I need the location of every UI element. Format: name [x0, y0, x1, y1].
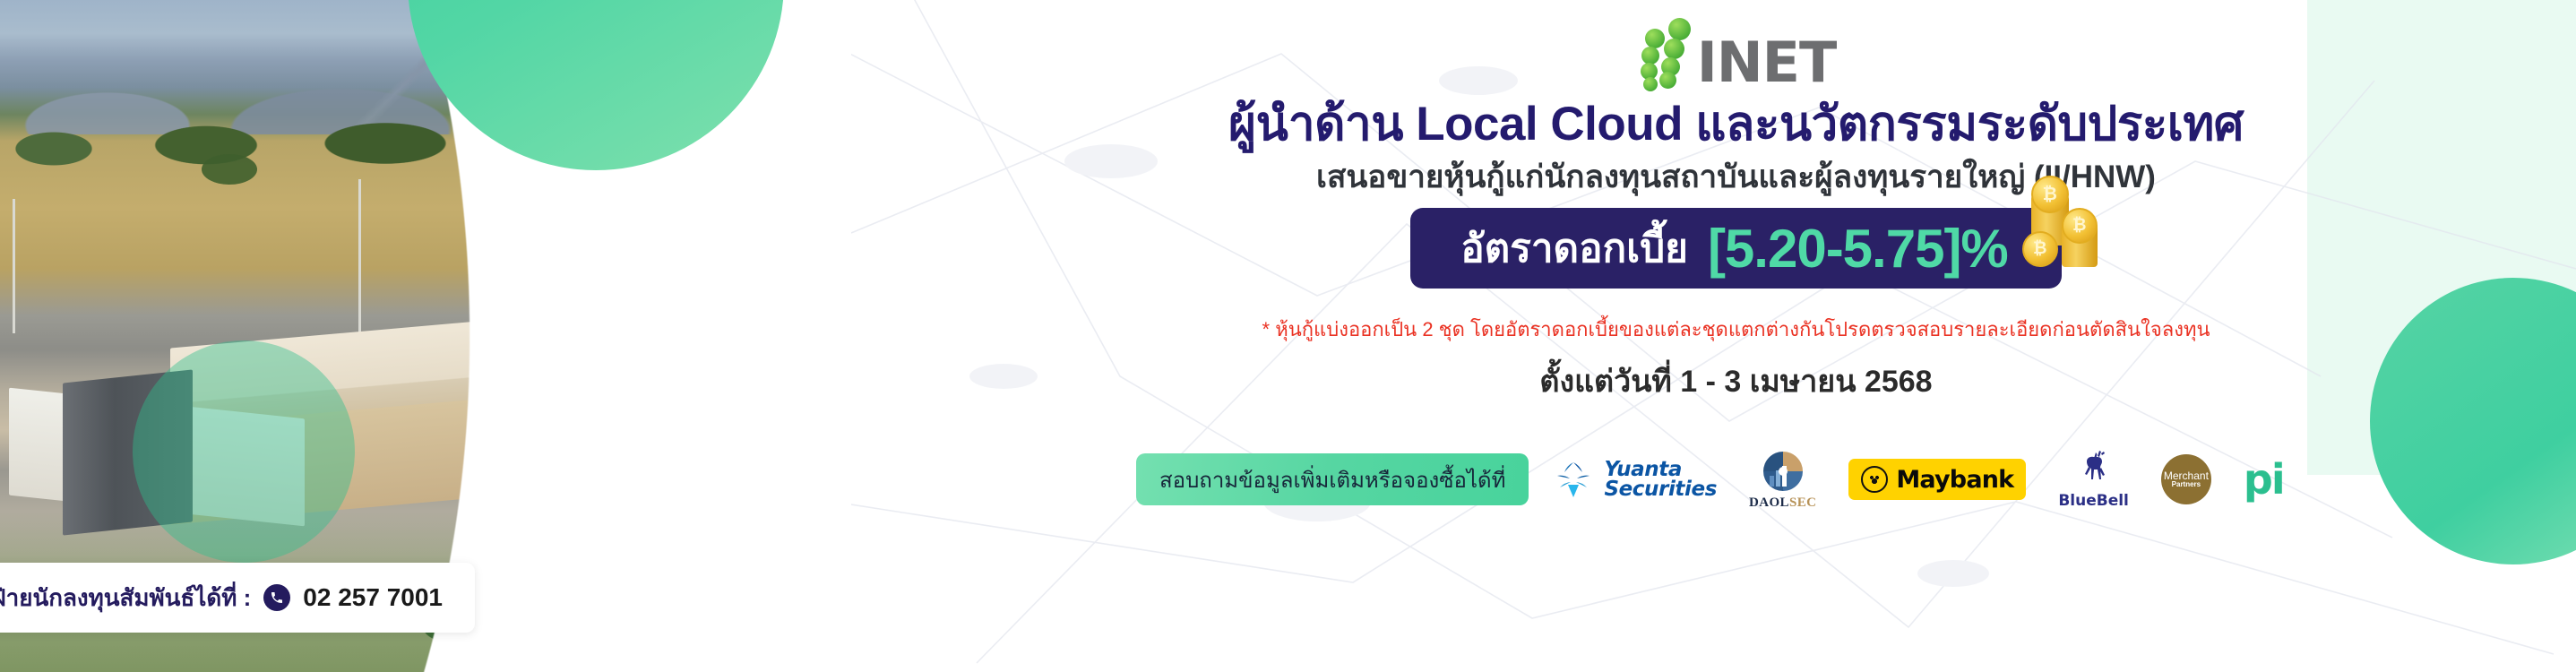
- rate-wrapper: อัตราดอกเบี้ย [5.20-5.75]% ₿ ₿ ₿: [896, 208, 2576, 289]
- utility-pole: [358, 179, 361, 336]
- contact-label: ติดต่อฝ่ายนักลงทุนสัมพันธ์ได้ที่ :: [0, 580, 251, 616]
- yuanta-wordmark: Yuanta Securities: [1604, 460, 1717, 499]
- maybank-tiger-icon: [1861, 466, 1888, 493]
- coin-front: ₿: [2022, 231, 2058, 267]
- merchant-line-2: Partners: [2172, 481, 2201, 488]
- photo-green-overlay-circle: [133, 340, 355, 563]
- subheadline: เสนอขายหุ้นกู้แก่นักลงทุนสถาบันและผู้ลงท…: [896, 152, 2576, 202]
- tree-line: [0, 106, 896, 168]
- gold-coins-icon: ₿ ₿ ₿: [2019, 172, 2117, 289]
- content-column: INET ผู้นำด้าน Local Cloud และนวัตกรรมระ…: [896, 0, 2576, 672]
- interest-rate-label: อัตราดอกเบี้ย: [1460, 217, 1688, 280]
- bluebell-deer-icon: [2076, 449, 2112, 491]
- utility-pole: [13, 199, 15, 333]
- inet-wordmark: INET: [1697, 39, 1837, 86]
- inquire-or-subscribe-button[interactable]: สอบถามข้อมูลเพิ่มเติมหรือจองซื้อได้ที่: [1136, 453, 1529, 505]
- bluebell-wordmark: BlueBell: [2058, 492, 2129, 510]
- partner-logo-pi[interactable]: pi: [2244, 463, 2284, 496]
- lone-tree: [202, 154, 257, 185]
- investor-relations-contact-card[interactable]: ติดต่อฝ่ายนักลงทุนสัมพันธ์ได้ที่ : 02 25…: [0, 563, 475, 633]
- inet-logo: INET: [1636, 16, 1837, 86]
- partner-logo-merchant-partners[interactable]: Merchant Partners: [2161, 454, 2211, 504]
- daol-wordmark: DAOLSEC: [1749, 495, 1816, 511]
- partner-logo-maybank[interactable]: Maybank: [1848, 459, 2026, 500]
- partner-logo-bluebell[interactable]: BlueBell: [2058, 449, 2129, 510]
- partner-logo-daol-sec[interactable]: DAOLSEC: [1749, 449, 1816, 511]
- partner-logos: Yuanta Securities: [1552, 449, 2283, 511]
- interest-rate-box: อัตราดอกเบี้ย [5.20-5.75]% ₿ ₿ ₿: [1410, 208, 2062, 289]
- interest-rate-value: [5.20-5.75]%: [1708, 218, 2008, 280]
- phone-icon: [263, 584, 290, 611]
- coin-top-left: ₿: [2031, 176, 2069, 213]
- cta-and-partners-row: สอบถามข้อมูลเพิ่มเติมหรือจองซื้อได้ที่: [1136, 448, 2570, 511]
- contact-phone-number: 02 257 7001: [303, 583, 443, 612]
- yuanta-star-icon: [1552, 458, 1595, 501]
- partner-logo-yuanta[interactable]: Yuanta Securities: [1552, 458, 1717, 501]
- pi-wordmark: pi: [2244, 463, 2284, 496]
- inet-bond-offer-banner: ติดต่อฝ่ายนักลงทุนสัมพันธ์ได้ที่ : 02 25…: [0, 0, 2576, 672]
- offer-date-range: ตั้งแต่วันที่ 1 - 3 เมษายน 2568: [896, 357, 2576, 405]
- daol-circle-icon: [1761, 449, 1805, 494]
- maybank-wordmark: Maybank: [1896, 466, 2013, 494]
- logo-row: INET: [896, 16, 2576, 86]
- headline: ผู้นำด้าน Local Cloud และนวัตกรรมระดับปร…: [896, 86, 2576, 161]
- coin-top-right: ₿: [2062, 208, 2098, 244]
- disclaimer-text: * หุ้นกู้แบ่งออกเป็น 2 ชุด โดยอัตราดอกเบ…: [896, 314, 2576, 345]
- inet-dots-logo-icon: [1636, 16, 1692, 86]
